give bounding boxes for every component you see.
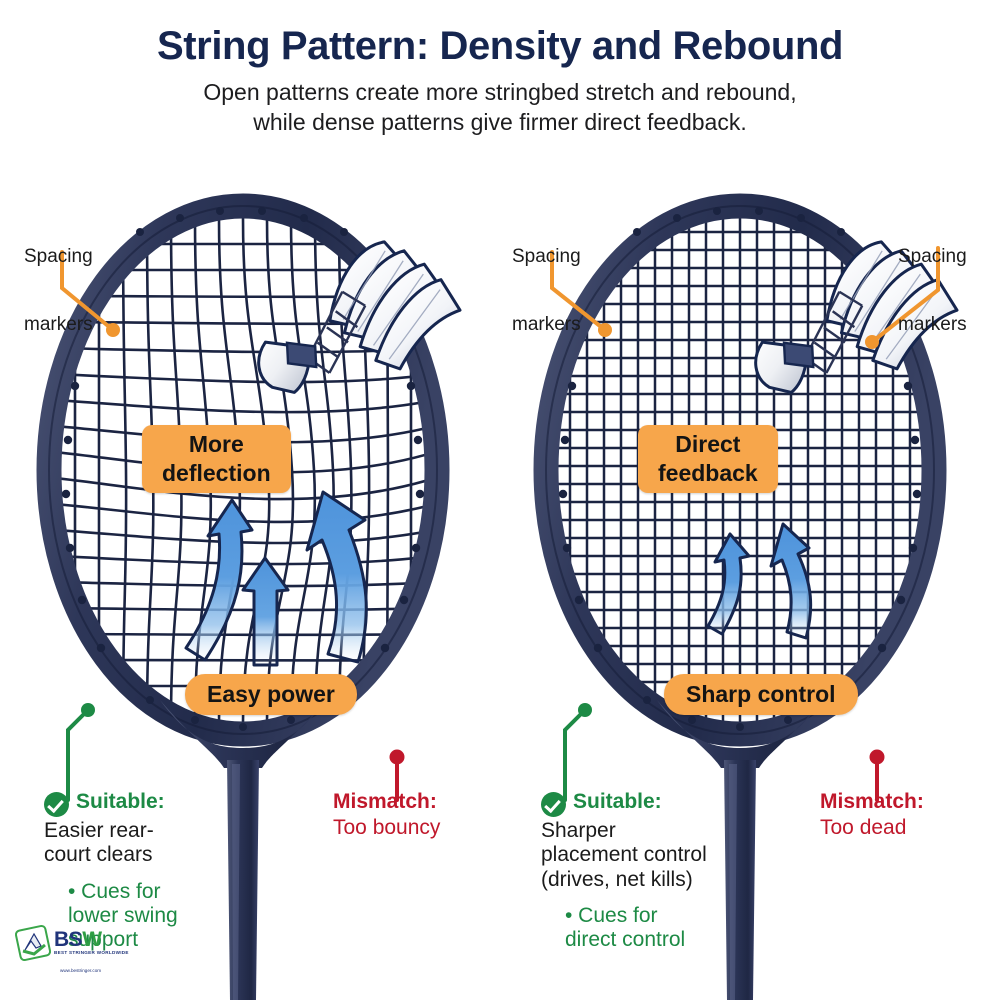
spacing-label-line-1: Spacing: [898, 246, 967, 269]
callout-line-1: Direct: [667, 430, 748, 459]
bsw-logo-mark: [14, 924, 54, 964]
bsw-tagline: BEST STRINGER WORLDWIDE: [54, 950, 129, 955]
suitable-line-2: court clears: [44, 843, 254, 867]
spacing-label-line-1: Spacing: [24, 246, 93, 269]
mismatch-body: Too bouncy: [333, 816, 503, 840]
right-callout-sharp-control: Sharp control: [664, 674, 858, 715]
suitable-line-3: (drives, net kills): [541, 868, 791, 892]
right-mismatch-note: Mismatch: Too dead: [820, 790, 980, 840]
bsw-url: www.bestringer.com: [60, 968, 101, 973]
right-spacing-markers-label-right: Spacing markers: [898, 200, 967, 382]
suitable-body: Easier rear- court clears: [44, 819, 254, 868]
cue-line-1: • Cues for: [68, 880, 254, 904]
mismatch-line-1: Too bouncy: [333, 816, 503, 840]
suitable-header: Suitable:: [541, 790, 791, 817]
right-suitable-note: Suitable: Sharper placement control (dri…: [541, 790, 791, 953]
cue-line-2: direct control: [565, 928, 791, 952]
check-circle-icon: [44, 792, 69, 817]
right-spacing-markers-label-left: Spacing markers: [512, 200, 581, 382]
mismatch-body: Too dead: [820, 816, 980, 840]
spacing-label-line-2: markers: [512, 314, 581, 337]
infographic-canvas: String Pattern: Density and Rebound Open…: [0, 0, 1000, 1000]
mismatch-title: Mismatch:: [820, 790, 980, 814]
callout-line-2: deflection: [154, 459, 279, 488]
cue-line-1: • Cues for: [565, 904, 791, 928]
suitable-title: Suitable:: [573, 790, 662, 814]
suitable-title: Suitable:: [76, 790, 165, 814]
check-circle-icon: [541, 792, 566, 817]
left-spacing-markers-label: Spacing markers: [24, 200, 93, 382]
mismatch-line-1: Too dead: [820, 816, 980, 840]
left-mismatch-note: Mismatch: Too bouncy: [333, 790, 503, 840]
suitable-line-2: placement control: [541, 843, 791, 867]
spacing-label-line-2: markers: [24, 314, 93, 337]
suitable-body: Sharper placement control (drives, net k…: [541, 819, 791, 892]
suitable-line-1: Easier rear-: [44, 819, 254, 843]
suitable-cues: • Cues for direct control: [565, 904, 791, 953]
callout-line-1: More: [181, 430, 252, 459]
suitable-line-1: Sharper: [541, 819, 791, 843]
bsw-wordmark: BSW: [54, 928, 102, 952]
suitable-header: Suitable:: [44, 790, 254, 817]
right-callout-direct-feedback: Direct feedback: [638, 425, 778, 493]
mismatch-title: Mismatch:: [333, 790, 503, 814]
callout-line-2: feedback: [650, 459, 766, 488]
bsw-logo: BSW BEST STRINGER WORLDWIDE www.bestring…: [14, 922, 136, 984]
left-callout-easy-power: Easy power: [185, 674, 357, 715]
spacing-label-line-1: Spacing: [512, 246, 581, 269]
spacing-label-line-2: markers: [898, 314, 967, 337]
left-callout-more-deflection: More deflection: [142, 425, 291, 493]
